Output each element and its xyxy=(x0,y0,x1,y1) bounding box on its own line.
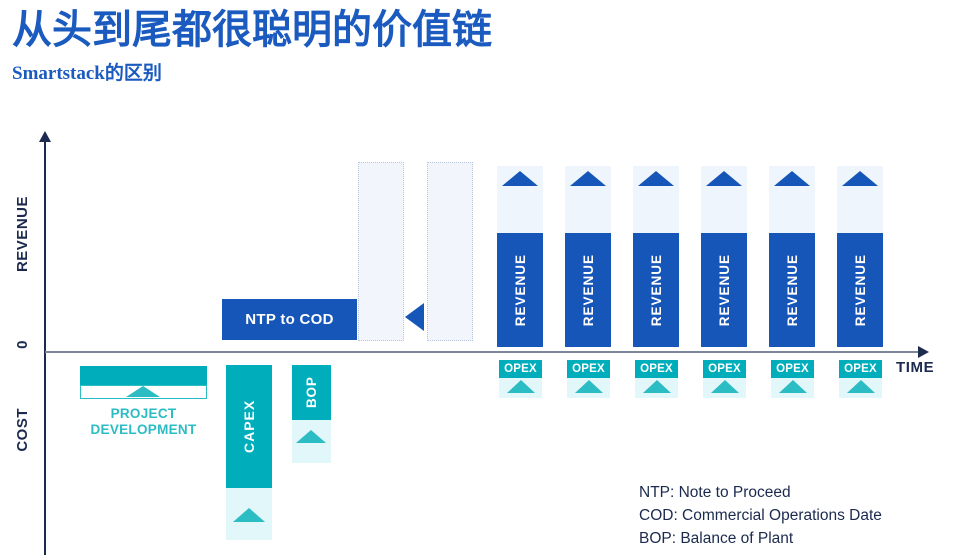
x-axis-label-time: TIME xyxy=(896,359,934,376)
bop-label: BOP xyxy=(292,365,331,420)
legend-line-cod: COD: Commercial Operations Date xyxy=(639,504,882,527)
project-development-bar xyxy=(80,366,207,385)
opex-triangle-icon xyxy=(779,380,807,393)
project-development-triangle-icon xyxy=(126,386,160,397)
project-development-label-line2: DEVELOPMENT xyxy=(90,422,196,437)
revenue-bar: REVENUE xyxy=(565,233,611,347)
y-axis-label-cost: COST xyxy=(14,408,31,452)
opex-label: OPEX xyxy=(499,360,542,378)
opex-label: OPEX xyxy=(567,360,610,378)
opex-triangle-icon xyxy=(711,380,739,393)
y-axis-line xyxy=(44,140,46,555)
revenue-bar: REVENUE xyxy=(497,233,543,347)
construction-box-2 xyxy=(427,162,473,341)
opex-label: OPEX xyxy=(635,360,678,378)
legend-line-ntp: NTP: Note to Proceed xyxy=(639,481,882,504)
revenue-bar-label: REVENUE xyxy=(853,254,868,326)
revenue-bar-label: REVENUE xyxy=(717,254,732,326)
opex-triangle-icon xyxy=(507,380,535,393)
value-chain-chart: REVENUE 0 COST TIME PROJECT DEVELOPMENT … xyxy=(0,0,958,557)
capex-triangle-icon xyxy=(233,508,265,522)
y-axis-arrow-icon xyxy=(39,131,51,142)
revenue-bar-label: REVENUE xyxy=(649,254,664,326)
capex-label: CAPEX xyxy=(226,365,272,488)
opex-triangle-icon xyxy=(847,380,875,393)
opex-triangle-icon xyxy=(643,380,671,393)
revenue-triangle-icon xyxy=(502,171,538,186)
revenue-bar-label: REVENUE xyxy=(581,254,596,326)
construction-box-1 xyxy=(358,162,404,341)
x-axis-line xyxy=(45,351,920,353)
opex-label: OPEX xyxy=(839,360,882,378)
y-axis-label-zero: 0 xyxy=(14,340,31,349)
bop-triangle-icon xyxy=(296,430,326,443)
ntp-to-cod-bar: NTP to COD xyxy=(222,299,357,340)
revenue-triangle-icon xyxy=(570,171,606,186)
x-axis-arrow-icon xyxy=(918,346,929,358)
revenue-triangle-icon xyxy=(842,171,878,186)
revenue-triangle-icon xyxy=(774,171,810,186)
opex-label: OPEX xyxy=(703,360,746,378)
construction-left-arrow-icon xyxy=(405,303,424,331)
revenue-bar-label: REVENUE xyxy=(513,254,528,326)
legend-line-bop: BOP: Balance of Plant xyxy=(639,527,882,550)
revenue-bar: REVENUE xyxy=(769,233,815,347)
y-axis-label-revenue: REVENUE xyxy=(14,196,31,272)
opex-label: OPEX xyxy=(771,360,814,378)
revenue-triangle-icon xyxy=(706,171,742,186)
revenue-triangle-icon xyxy=(638,171,674,186)
legend: NTP: Note to Proceed COD: Commercial Ope… xyxy=(639,481,882,550)
revenue-bar: REVENUE xyxy=(701,233,747,347)
project-development-label-line1: PROJECT xyxy=(111,406,177,421)
revenue-bar-label: REVENUE xyxy=(785,254,800,326)
opex-triangle-icon xyxy=(575,380,603,393)
project-development-label: PROJECT DEVELOPMENT xyxy=(80,406,207,438)
revenue-bar: REVENUE xyxy=(633,233,679,347)
revenue-bar: REVENUE xyxy=(837,233,883,347)
